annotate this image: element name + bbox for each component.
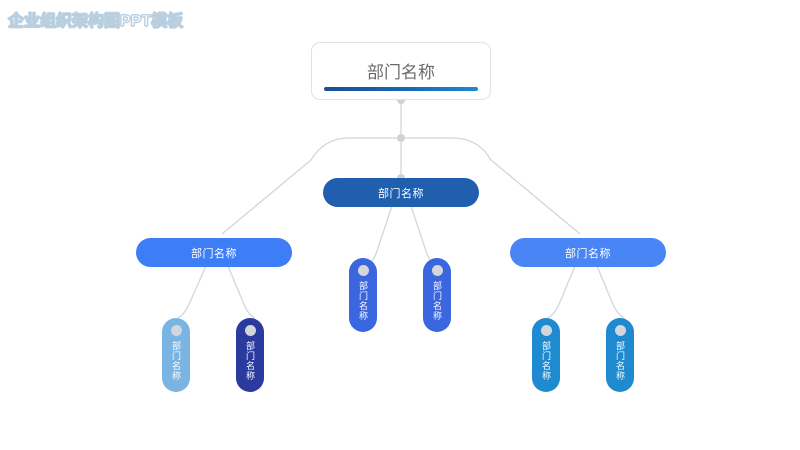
leaf-dot-icon — [245, 325, 256, 336]
node-leaf-left-1-label: 部门名称 — [171, 341, 181, 381]
node-branch-left[interactable]: 部门名称 — [136, 238, 292, 267]
connector-left-leaf-2 — [228, 266, 256, 321]
connector-right-leaf-1 — [546, 266, 575, 321]
node-leaf-center-2[interactable]: 部门名称 — [423, 258, 451, 332]
leaf-dot-icon — [358, 265, 369, 276]
node-leaf-center-1[interactable]: 部门名称 — [349, 258, 377, 332]
node-branch-right-label: 部门名称 — [565, 245, 611, 261]
leaf-dot-icon — [541, 325, 552, 336]
junction-dot-branch — [397, 134, 405, 142]
leaf-dot-icon — [615, 325, 626, 336]
connector-left-leaf-1 — [176, 266, 206, 321]
node-branch-center-label: 部门名称 — [378, 185, 424, 201]
node-leaf-left-1[interactable]: 部门名称 — [162, 318, 190, 392]
node-branch-center[interactable]: 部门名称 — [323, 178, 479, 207]
slide-canvas: 企业组织架构图PPT模板 部门名称 部门名称 — [0, 0, 800, 450]
node-branch-left-label: 部门名称 — [191, 245, 237, 261]
node-leaf-left-2[interactable]: 部门名称 — [236, 318, 264, 392]
node-leaf-center-2-label: 部门名称 — [432, 281, 442, 321]
leaf-dot-icon — [432, 265, 443, 276]
node-leaf-center-1-label: 部门名称 — [358, 281, 368, 321]
node-leaf-right-2-label: 部门名称 — [615, 341, 625, 381]
connector-right-leaf-2 — [597, 266, 626, 321]
node-root-label: 部门名称 — [367, 64, 435, 81]
node-leaf-right-2[interactable]: 部门名称 — [606, 318, 634, 392]
leaf-dot-icon — [171, 325, 182, 336]
node-leaf-right-1-label: 部门名称 — [541, 341, 551, 381]
node-branch-right[interactable]: 部门名称 — [510, 238, 666, 267]
node-root[interactable]: 部门名称 — [311, 42, 491, 100]
root-accent-bar — [324, 87, 478, 91]
node-leaf-left-2-label: 部门名称 — [245, 341, 255, 381]
node-leaf-right-1[interactable]: 部门名称 — [532, 318, 560, 392]
